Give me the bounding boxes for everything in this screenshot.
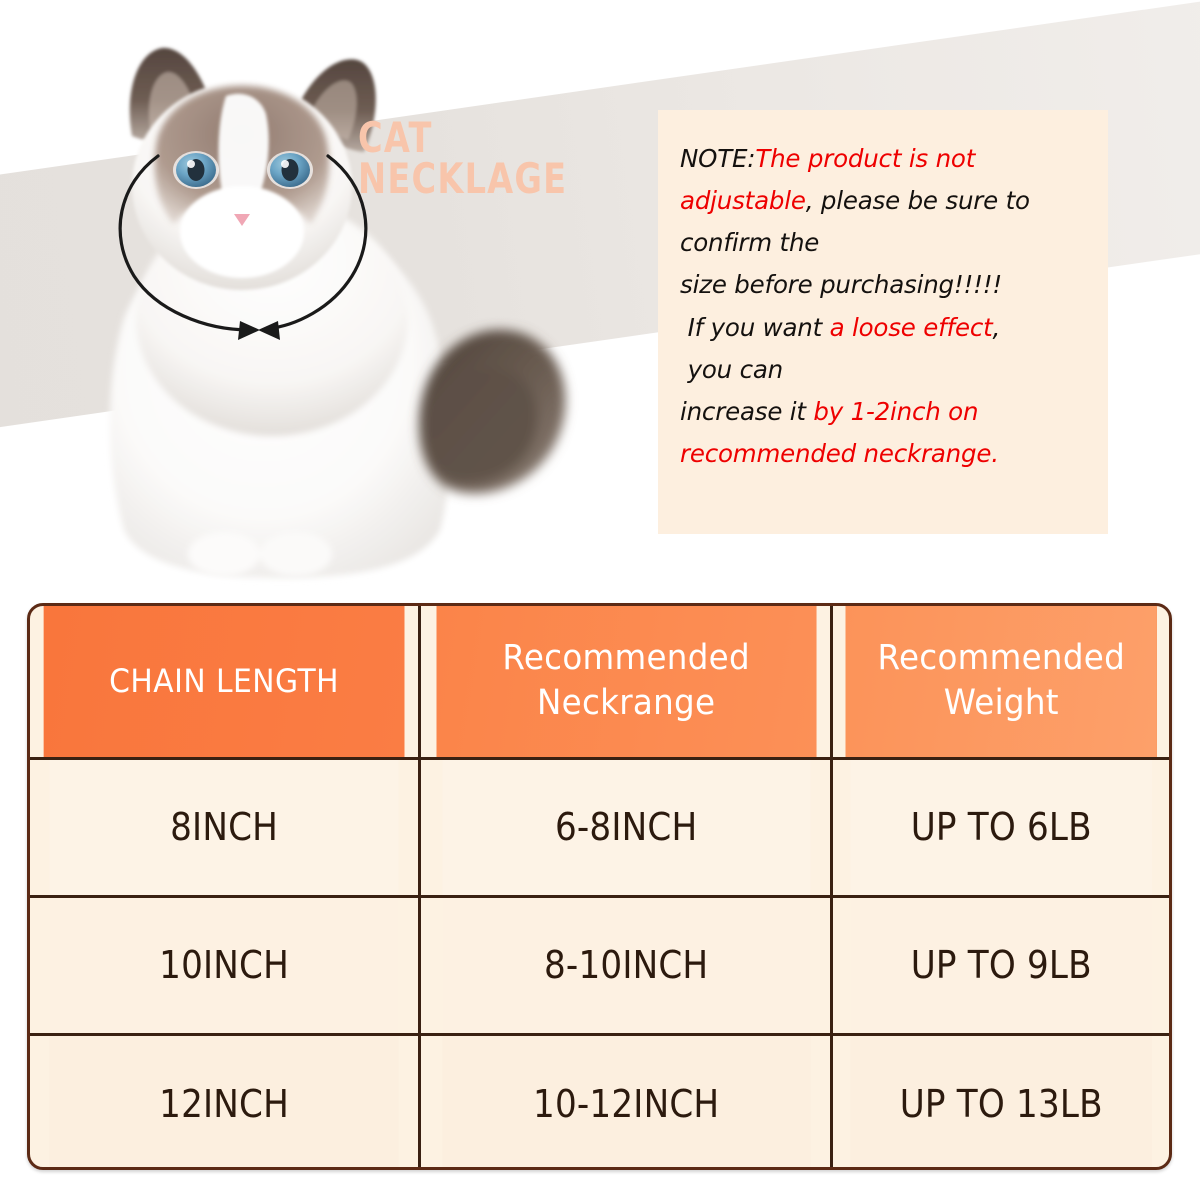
note-segment: increase it bbox=[680, 397, 813, 426]
note-line: size before purchasing!!!!! bbox=[680, 264, 1092, 306]
cell-value: UP TO 9LB bbox=[911, 943, 1092, 987]
infographic-page: CAT NECKLAGE NOTE:The product is notadju… bbox=[0, 0, 1200, 1200]
cell-value: 12INCH bbox=[159, 1082, 289, 1126]
table-body: 8INCH 6-8INCH UP TO 6LB 10INCH 8-10INCH bbox=[30, 758, 1169, 1170]
note-line: confirm the bbox=[680, 222, 1092, 264]
note-segment: , bbox=[993, 313, 1001, 342]
cat-head bbox=[132, 82, 352, 290]
note-line: you can bbox=[680, 349, 1092, 391]
cell-value: 10-12INCH bbox=[533, 1082, 719, 1126]
note-segment: by 1-2inch on bbox=[813, 397, 978, 426]
cell-recommended-weight: UP TO 13LB bbox=[849, 1034, 1152, 1170]
column-header-recommended-weight-label: RecommendedWeight bbox=[877, 638, 1124, 723]
note-line: recommended neckrange. bbox=[680, 433, 1092, 475]
cell-value: 8-10INCH bbox=[544, 943, 708, 987]
cat-tail bbox=[419, 330, 565, 494]
column-header-chain-length: CHAIN LENGTH bbox=[44, 606, 406, 758]
column-header-recommended-neckrange-label: RecommendedNeckrange bbox=[502, 638, 749, 723]
note-segment: adjustable bbox=[680, 186, 806, 215]
note-segment: recommended neckrange. bbox=[680, 439, 999, 468]
cell-value: 6-8INCH bbox=[554, 805, 696, 849]
table-row: 12INCH 10-12INCH UP TO 13LB bbox=[30, 1034, 1169, 1170]
note-line: If you want a loose effect, bbox=[680, 307, 1092, 349]
cell-recommended-weight: UP TO 9LB bbox=[849, 896, 1152, 1034]
note-segment: confirm the bbox=[680, 228, 819, 257]
note-segment: a loose effect bbox=[830, 313, 993, 342]
table-row: 8INCH 6-8INCH UP TO 6LB bbox=[30, 758, 1169, 896]
table: CHAIN LENGTH RecommendedNeckrange Recomm… bbox=[30, 606, 1169, 1170]
size-chart-table: CHAIN LENGTH RecommendedNeckrange Recomm… bbox=[27, 603, 1172, 1170]
table-header: CHAIN LENGTH RecommendedNeckrange Recomm… bbox=[30, 606, 1169, 758]
column-header-chain-length-label: CHAIN LENGTH bbox=[109, 662, 339, 700]
cell-chain-length: 12INCH bbox=[49, 1034, 400, 1170]
note-text: NOTE:The product is notadjustable, pleas… bbox=[680, 138, 1092, 475]
note-line: increase it by 1-2inch on bbox=[680, 391, 1092, 433]
note-segment: size before purchasing!!!!! bbox=[680, 270, 1002, 299]
table-header-row: CHAIN LENGTH RecommendedNeckrange Recomm… bbox=[30, 606, 1169, 758]
note-segment: you can bbox=[680, 355, 783, 384]
note-segment: If you want bbox=[680, 313, 830, 342]
column-header-recommended-weight: RecommendedWeight bbox=[844, 606, 1158, 758]
column-header-recommended-neckrange: RecommendedNeckrange bbox=[434, 606, 817, 758]
title-line-2: NECKLAGE bbox=[358, 158, 567, 199]
note-segment: The product is not bbox=[755, 144, 975, 173]
cell-recommended-weight: UP TO 6LB bbox=[849, 758, 1152, 896]
note-line: NOTE:The product is not bbox=[680, 138, 1092, 180]
cell-recommended-neckrange: 8-10INCH bbox=[440, 896, 811, 1034]
cell-value: UP TO 13LB bbox=[900, 1082, 1103, 1126]
cell-recommended-neckrange: 6-8INCH bbox=[440, 758, 811, 896]
note-segment: , please be sure to bbox=[806, 186, 1030, 215]
cell-value: UP TO 6LB bbox=[911, 805, 1092, 849]
table-row: 10INCH 8-10INCH UP TO 9LB bbox=[30, 896, 1169, 1034]
cell-value: 8INCH bbox=[170, 805, 278, 849]
note-segment: NOTE: bbox=[680, 144, 755, 173]
cell-value: 10INCH bbox=[159, 943, 289, 987]
cell-recommended-neckrange: 10-12INCH bbox=[440, 1034, 811, 1170]
note-panel: NOTE:The product is notadjustable, pleas… bbox=[658, 110, 1108, 534]
page-title: CAT NECKLAGE bbox=[358, 76, 567, 241]
cell-chain-length: 8INCH bbox=[49, 758, 400, 896]
note-line: adjustable, please be sure to bbox=[680, 180, 1092, 222]
cell-chain-length: 10INCH bbox=[49, 896, 400, 1034]
